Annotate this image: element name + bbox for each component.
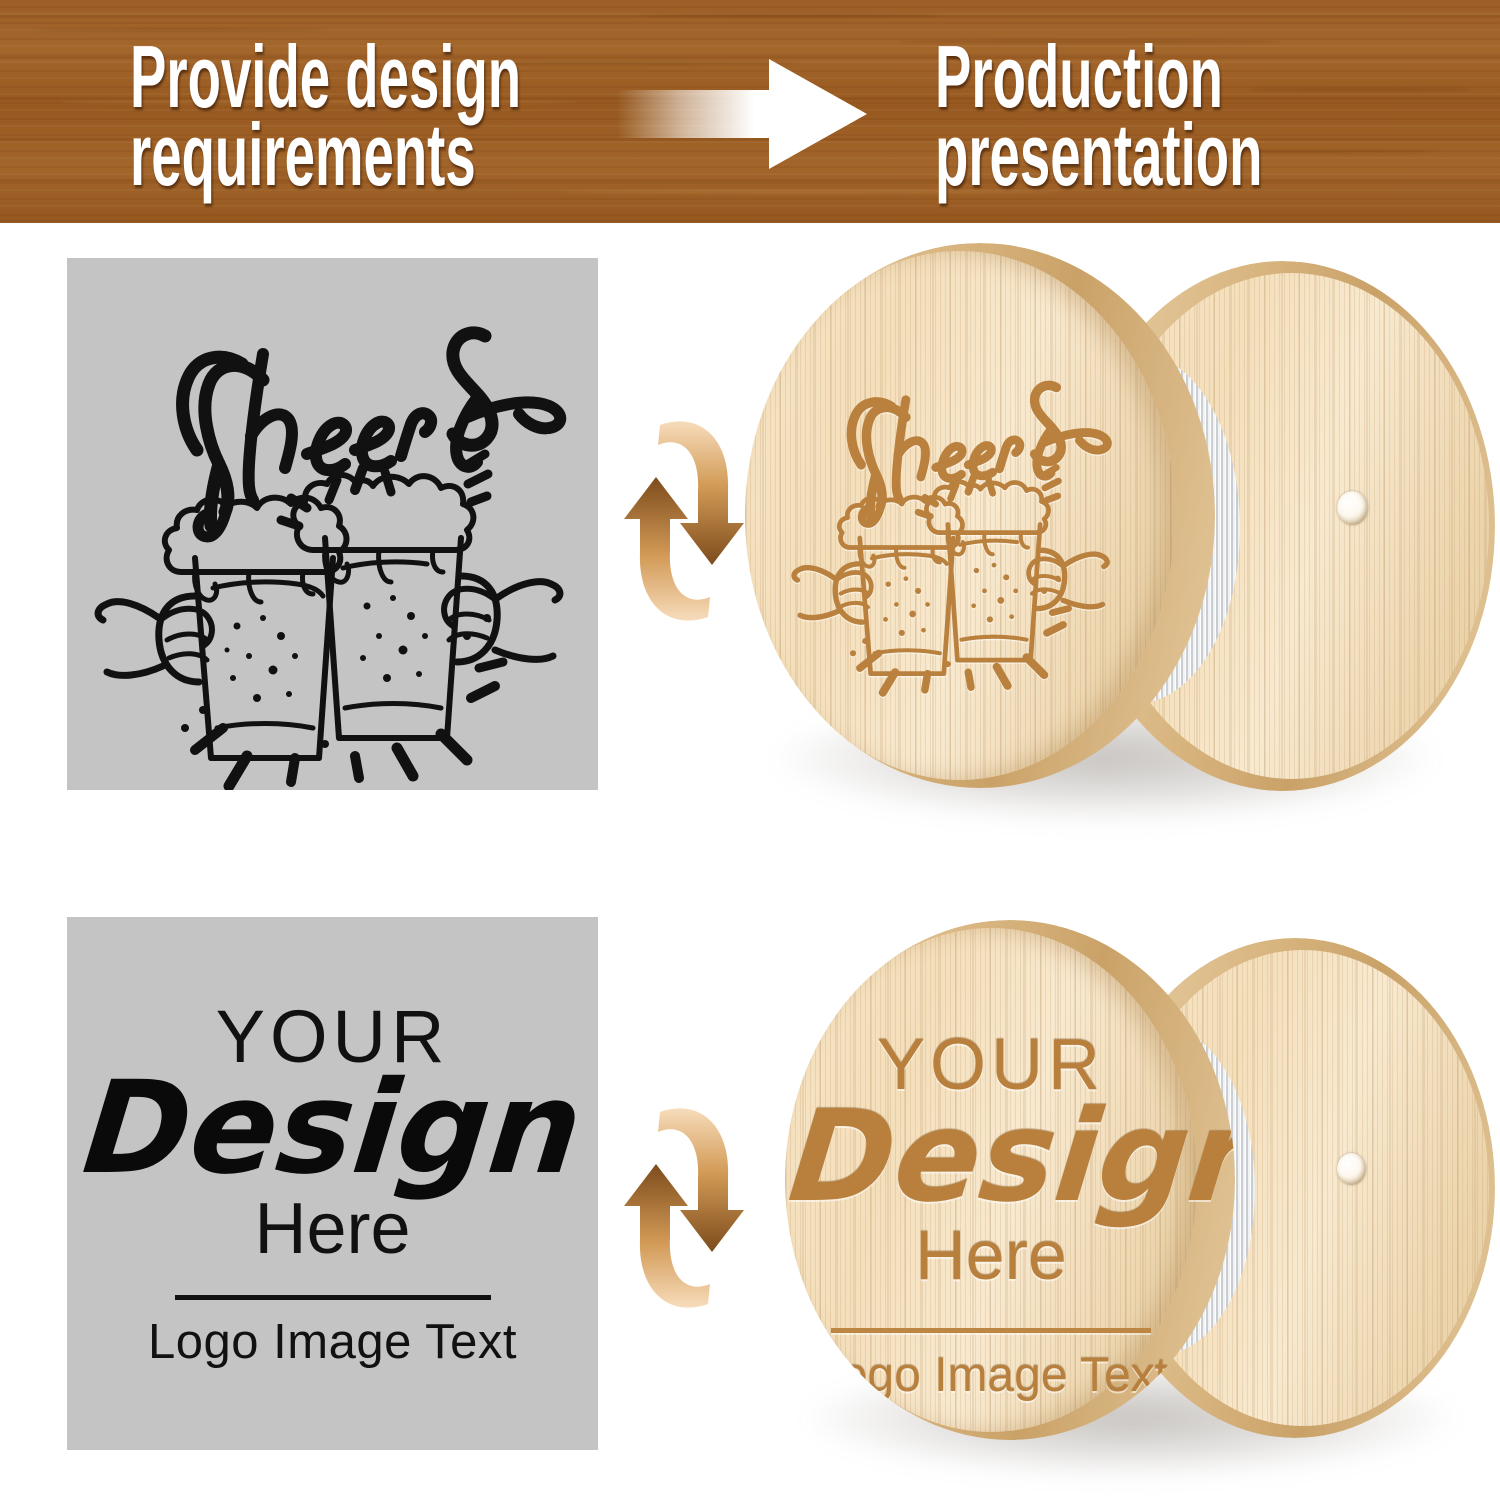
design-panel-cheers bbox=[67, 258, 598, 790]
your-design-here-artwork: YOUR Design Here Logo Image Text bbox=[67, 917, 598, 1450]
wood-grain-streak bbox=[640, 14, 940, 17]
header-right-line2: presentation bbox=[935, 104, 1262, 206]
wood-grain-streak bbox=[1250, 88, 1470, 91]
header-left-line2: requirements bbox=[130, 104, 476, 206]
design-line-logo: Logo Image Text bbox=[148, 1318, 517, 1367]
hanging-hole bbox=[1337, 1153, 1366, 1185]
engraved-line-here: Here bbox=[791, 1215, 1191, 1295]
cheers-engraving-artwork bbox=[773, 295, 1133, 735]
cheers-beer-mugs-line-art bbox=[67, 258, 598, 790]
coaster-front-engraved bbox=[745, 243, 1215, 788]
design-line-design: Design bbox=[78, 1068, 587, 1190]
design-panel-your-design: YOUR Design Here Logo Image Text bbox=[67, 917, 598, 1450]
product-photo-cheers-coasters bbox=[735, 243, 1495, 813]
design-line-here: Here bbox=[254, 1193, 410, 1265]
engraved-line-design: Design bbox=[785, 1083, 1199, 1230]
engraved-divider-line bbox=[831, 1328, 1151, 1333]
hanging-hole bbox=[1337, 491, 1368, 525]
circular-sync-arrows-icon bbox=[624, 1092, 744, 1324]
product-photo-your-design-coasters: YOUR Design Here Logo Image Text bbox=[775, 920, 1495, 1465]
header-banner: Provide design requirements Production p… bbox=[0, 0, 1500, 223]
circular-sync-arrows-icon bbox=[624, 405, 744, 637]
right-arrow-icon bbox=[617, 53, 867, 175]
coaster-front-engraved: YOUR Design Here Logo Image Text bbox=[785, 920, 1235, 1440]
engraved-line-logo: Logo Image Text bbox=[791, 1348, 1191, 1403]
design-divider-line bbox=[175, 1295, 491, 1300]
